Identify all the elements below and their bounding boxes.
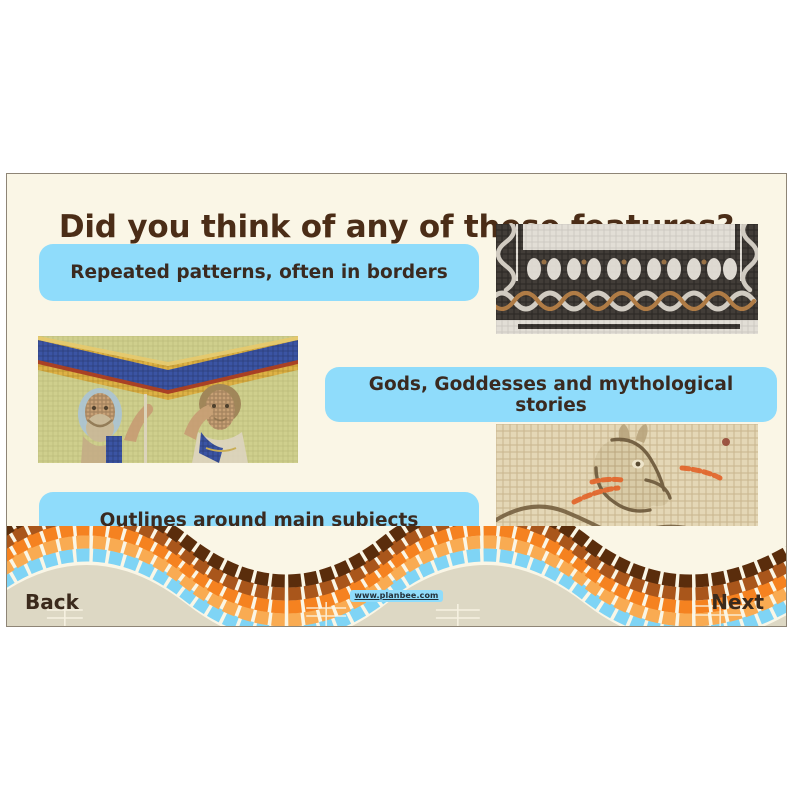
presentation-slide: Did you think of any of these features? (6, 173, 787, 627)
feature-box-gods-goddesses[interactable]: Gods, Goddesses and mythological stories (325, 367, 777, 422)
geometric-border-mosaic-photo (496, 224, 758, 334)
mosaic-wave-artwork (7, 526, 786, 626)
geometric-mosaic-artwork (496, 224, 758, 334)
next-button[interactable]: Next (705, 588, 770, 616)
feature-box-repeated-patterns[interactable]: Repeated patterns, often in borders (39, 244, 479, 301)
deities-mosaic-artwork (38, 336, 298, 463)
back-button[interactable]: Back (19, 588, 85, 616)
screenshot-canvas: Did you think of any of these features? (0, 0, 800, 800)
planbee-watermark[interactable]: www.planbee.com (350, 590, 444, 602)
mosaic-wave-border (7, 526, 786, 626)
deities-mosaic-photo (38, 336, 298, 463)
